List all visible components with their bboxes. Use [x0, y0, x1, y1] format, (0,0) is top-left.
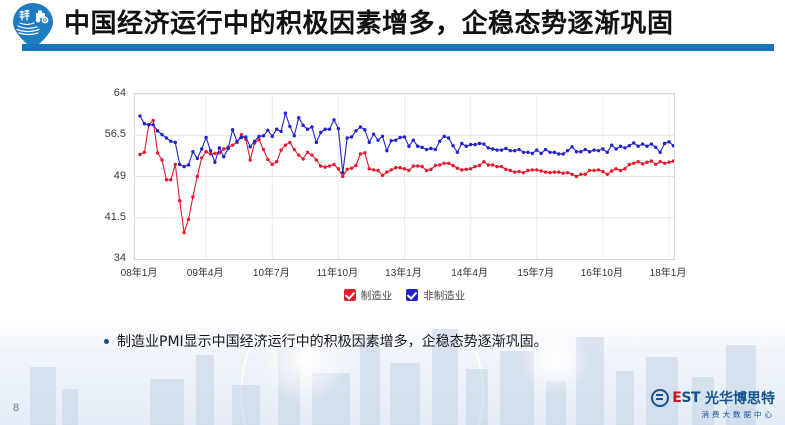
data-point [200, 156, 203, 159]
data-point [517, 170, 520, 173]
data-point [597, 168, 600, 171]
data-point [531, 168, 534, 171]
data-point [447, 136, 450, 139]
slide: 中国经济运行中的积极因素增多，企稳态势逐渐巩固 3441.54956.564 0… [0, 0, 785, 425]
data-point [218, 146, 221, 149]
data-point [381, 174, 384, 177]
data-point [306, 151, 309, 154]
page-title: 中国经济运行中的积极因素增多，企稳态势逐渐巩固 [64, 3, 674, 40]
x-axis-tick-label: 13年1月 [385, 264, 422, 279]
data-point [240, 136, 243, 139]
data-point [632, 141, 635, 144]
data-point [257, 135, 260, 138]
data-point [460, 142, 463, 145]
data-point [332, 163, 335, 166]
data-point [152, 119, 155, 122]
data-point [288, 125, 291, 128]
data-point [531, 152, 534, 155]
brand-logo: EST 光华博思特 消费大数据中心 [651, 388, 775, 420]
data-point [376, 139, 379, 142]
data-point [293, 148, 296, 151]
data-point [156, 151, 159, 154]
data-point [456, 151, 459, 154]
x-axis-tick-label: 16年10月 [581, 264, 623, 279]
data-point [473, 165, 476, 168]
data-point [174, 163, 177, 166]
data-point [381, 135, 384, 138]
brand-mark: EST [672, 390, 700, 406]
data-point [169, 178, 172, 181]
data-point [284, 112, 287, 115]
location-pin-agriculture-icon [8, 1, 58, 49]
data-point [650, 142, 653, 145]
data-point [610, 169, 613, 172]
brand-mark-st: ST [681, 390, 700, 406]
x-axis-tick-label: 14年4月 [451, 264, 488, 279]
data-point [279, 130, 282, 133]
data-point [337, 127, 340, 130]
data-point [271, 163, 274, 166]
data-point [544, 170, 547, 173]
bullet-point: 制造业PMI显示中国经济运行中的积极因素增多，企稳态势逐渐巩固。 [104, 330, 724, 352]
data-point [341, 175, 344, 178]
legend-label: 非制造业 [423, 288, 465, 303]
bullet-text: 制造业PMI显示中国经济运行中的积极因素增多，企稳态势逐渐巩固。 [117, 331, 548, 351]
x-axis-tick-label: 10年7月 [253, 264, 290, 279]
x-axis-tick-label: 11年10月 [317, 264, 359, 279]
data-point [460, 168, 463, 171]
data-point [456, 167, 459, 170]
data-point [279, 148, 282, 151]
data-point [244, 135, 247, 138]
data-point [663, 162, 666, 165]
data-point [610, 143, 613, 146]
data-point [178, 163, 181, 166]
data-point [623, 146, 626, 149]
data-point [368, 141, 371, 144]
data-point [403, 167, 406, 170]
data-point [614, 147, 617, 150]
data-point [359, 152, 362, 155]
data-point [509, 169, 512, 172]
data-point [513, 170, 516, 173]
data-point [645, 161, 648, 164]
data-point [442, 162, 445, 165]
data-point [504, 168, 507, 171]
data-point [487, 163, 490, 166]
data-point [465, 168, 468, 171]
data-point [438, 163, 441, 166]
data-point [249, 145, 252, 148]
data-point [407, 169, 410, 172]
data-point [606, 151, 609, 154]
data-point [539, 169, 542, 172]
data-point [429, 147, 432, 150]
data-point [548, 171, 551, 174]
data-point [469, 167, 472, 170]
data-point [262, 134, 265, 137]
data-point [663, 142, 666, 145]
data-point [575, 175, 578, 178]
data-point [495, 148, 498, 151]
legend-label: 制造业 [361, 288, 393, 303]
data-point [566, 171, 569, 174]
data-point [160, 158, 163, 161]
data-point [398, 166, 401, 169]
data-point [310, 153, 313, 156]
data-point [487, 146, 490, 149]
data-point [601, 170, 604, 173]
data-point [253, 140, 256, 143]
data-point [297, 116, 300, 119]
data-point [266, 129, 269, 132]
data-point [350, 135, 353, 138]
data-point [143, 151, 146, 154]
data-point [654, 163, 657, 166]
data-point [394, 166, 397, 169]
data-point [442, 135, 445, 138]
data-point [390, 139, 393, 142]
data-point [416, 145, 419, 148]
data-point [328, 164, 331, 167]
data-point [416, 164, 419, 167]
data-point [138, 114, 141, 117]
data-point [403, 135, 406, 138]
y-axis-tick-label: 34 [114, 252, 126, 264]
data-point [341, 171, 344, 174]
data-point [231, 128, 234, 131]
data-point [509, 149, 512, 152]
data-point [447, 162, 450, 165]
data-point [160, 133, 163, 136]
data-point [482, 160, 485, 163]
data-point [504, 147, 507, 150]
data-point [579, 150, 582, 153]
data-point [672, 159, 674, 162]
data-point [368, 167, 371, 170]
y-axis-tick-label: 41.5 [105, 211, 126, 223]
data-point [491, 163, 494, 166]
data-point [284, 143, 287, 146]
data-point [628, 144, 631, 147]
data-point [570, 145, 573, 148]
data-point [592, 148, 595, 151]
data-point [182, 165, 185, 168]
data-point [372, 168, 375, 171]
data-point [412, 139, 415, 142]
data-point [584, 173, 587, 176]
data-point [363, 128, 366, 131]
data-point [526, 151, 529, 154]
data-point [513, 149, 516, 152]
data-point [420, 146, 423, 149]
data-point [544, 148, 547, 151]
data-point [562, 152, 565, 155]
data-point [345, 168, 348, 171]
data-point [226, 147, 229, 150]
data-point [557, 152, 560, 155]
data-point [553, 151, 556, 154]
data-point [658, 151, 661, 154]
data-point [588, 169, 591, 172]
data-point [535, 148, 538, 151]
data-point [319, 131, 322, 134]
x-axis-tick-label: 09年4月 [187, 264, 224, 279]
y-axis-tick-label: 56.5 [105, 128, 126, 140]
data-point [156, 129, 159, 132]
data-point [478, 142, 481, 145]
x-axis-tick-label: 08年1月 [121, 264, 158, 279]
data-point [500, 148, 503, 151]
x-axis-labels: 08年1月09年4月10年7月11年10月13年1月14年4月15年7月16年1… [134, 264, 675, 284]
y-axis-tick-label: 49 [114, 170, 126, 182]
data-point [601, 147, 604, 150]
x-axis-tick-label: 18年1月 [650, 264, 687, 279]
data-point [491, 147, 494, 150]
data-point [222, 147, 225, 150]
data-point [478, 164, 481, 167]
data-point [553, 170, 556, 173]
data-point [465, 145, 468, 148]
data-point [191, 150, 194, 153]
data-point [147, 123, 150, 126]
data-point [566, 149, 569, 152]
data-point [385, 170, 388, 173]
chart-svg [135, 94, 674, 259]
data-point [315, 141, 318, 144]
data-point [667, 140, 670, 143]
data-point [658, 160, 661, 163]
data-point [213, 152, 216, 155]
data-point [469, 143, 472, 146]
data-point [222, 155, 225, 158]
data-point [628, 163, 631, 166]
data-point [209, 149, 212, 152]
data-point [522, 151, 525, 154]
data-point [597, 149, 600, 152]
data-point [575, 150, 578, 153]
data-point [262, 148, 265, 151]
data-point [623, 167, 626, 170]
data-point [420, 165, 423, 168]
data-point [438, 140, 441, 143]
legend-checkbox-icon[interactable] [344, 289, 356, 301]
legend-item-非制造业[interactable]: 非制造业 [406, 288, 465, 303]
data-point [187, 163, 190, 166]
data-point [293, 134, 296, 137]
data-point [619, 169, 622, 172]
data-point [641, 162, 644, 165]
data-point [249, 158, 252, 161]
data-point [579, 173, 582, 176]
data-point [526, 169, 529, 172]
page-number: 8 [13, 402, 19, 414]
data-point [275, 160, 278, 163]
data-point [535, 168, 538, 171]
data-point [213, 161, 216, 164]
data-point [539, 152, 542, 155]
data-point [584, 148, 587, 151]
data-point [204, 150, 207, 153]
data-point [169, 140, 172, 143]
brand-mark-e: E [672, 390, 681, 406]
data-point [548, 151, 551, 154]
data-point [632, 162, 635, 165]
data-point [363, 151, 366, 154]
data-point [354, 129, 357, 132]
data-point [412, 164, 415, 167]
data-point [592, 169, 595, 172]
y-axis-tick-label: 64 [114, 87, 126, 99]
data-point [434, 164, 437, 167]
data-point [650, 159, 653, 162]
data-point [315, 158, 318, 161]
chart-legend: 制造业非制造业 [134, 284, 675, 306]
data-point [178, 199, 181, 202]
data-point [275, 128, 278, 131]
data-point [328, 128, 331, 131]
data-point [191, 195, 194, 198]
data-point [301, 157, 304, 160]
data-point [588, 150, 591, 153]
slide-header: 中国经济运行中的积极因素增多，企稳态势逐渐巩固 [0, 0, 785, 52]
data-point [654, 146, 657, 149]
data-point [570, 173, 573, 176]
data-point [451, 164, 454, 167]
data-point [394, 139, 397, 142]
data-point [359, 125, 362, 128]
data-point [557, 170, 560, 173]
data-point [425, 169, 428, 172]
series-line-非制造业 [140, 113, 674, 172]
data-point [619, 145, 622, 148]
data-point [196, 157, 199, 160]
data-point [323, 128, 326, 131]
data-point [288, 141, 291, 144]
data-point [231, 143, 234, 146]
data-point [182, 231, 185, 234]
data-point [152, 123, 155, 126]
data-point [636, 160, 639, 163]
data-point [372, 132, 375, 135]
data-point [200, 147, 203, 150]
brand-name: 光华博思特 [705, 388, 775, 408]
data-point [641, 142, 644, 145]
data-point [482, 142, 485, 145]
data-point [522, 171, 525, 174]
data-point [143, 122, 146, 125]
data-point [345, 136, 348, 139]
data-point [138, 153, 141, 156]
legend-item-制造业[interactable]: 制造业 [344, 288, 393, 303]
data-point [425, 148, 428, 151]
data-point [517, 148, 520, 151]
data-point [385, 149, 388, 152]
data-point [636, 145, 639, 148]
data-point [606, 173, 609, 176]
data-point [204, 136, 207, 139]
data-point [398, 136, 401, 139]
brand-subtitle: 消费大数据中心 [651, 409, 775, 420]
data-point [196, 175, 199, 178]
data-point [451, 144, 454, 147]
data-point [667, 161, 670, 164]
data-point [271, 135, 274, 138]
data-point [319, 164, 322, 167]
legend-checkbox-icon[interactable] [406, 289, 418, 301]
data-point [614, 167, 617, 170]
data-point [354, 164, 357, 167]
data-point [434, 148, 437, 151]
data-point [350, 167, 353, 170]
data-point [645, 145, 648, 148]
data-point [266, 158, 269, 161]
x-axis-tick-label: 15年7月 [517, 264, 554, 279]
data-point [297, 153, 300, 156]
data-point [310, 125, 313, 128]
data-point [390, 168, 393, 171]
data-point [187, 218, 190, 221]
bullet-dot-icon [104, 339, 109, 344]
data-point [500, 165, 503, 168]
data-point [473, 143, 476, 146]
title-underline-rule [22, 44, 774, 51]
brand-circle-icon [651, 389, 669, 407]
data-point [562, 172, 565, 175]
data-point [165, 136, 168, 139]
data-point [429, 168, 432, 171]
data-point [495, 165, 498, 168]
data-point [235, 140, 238, 143]
data-point [323, 165, 326, 168]
data-point [306, 128, 309, 131]
pmi-chart: 3441.54956.564 08年1月09年4月10年7月11年10月13年1… [60, 62, 720, 312]
data-point [165, 178, 168, 181]
data-point [332, 118, 335, 121]
plot-area [134, 93, 675, 260]
data-point [174, 141, 177, 144]
data-point [376, 169, 379, 172]
data-point [301, 124, 304, 127]
data-point [407, 145, 410, 148]
data-point [337, 167, 340, 170]
